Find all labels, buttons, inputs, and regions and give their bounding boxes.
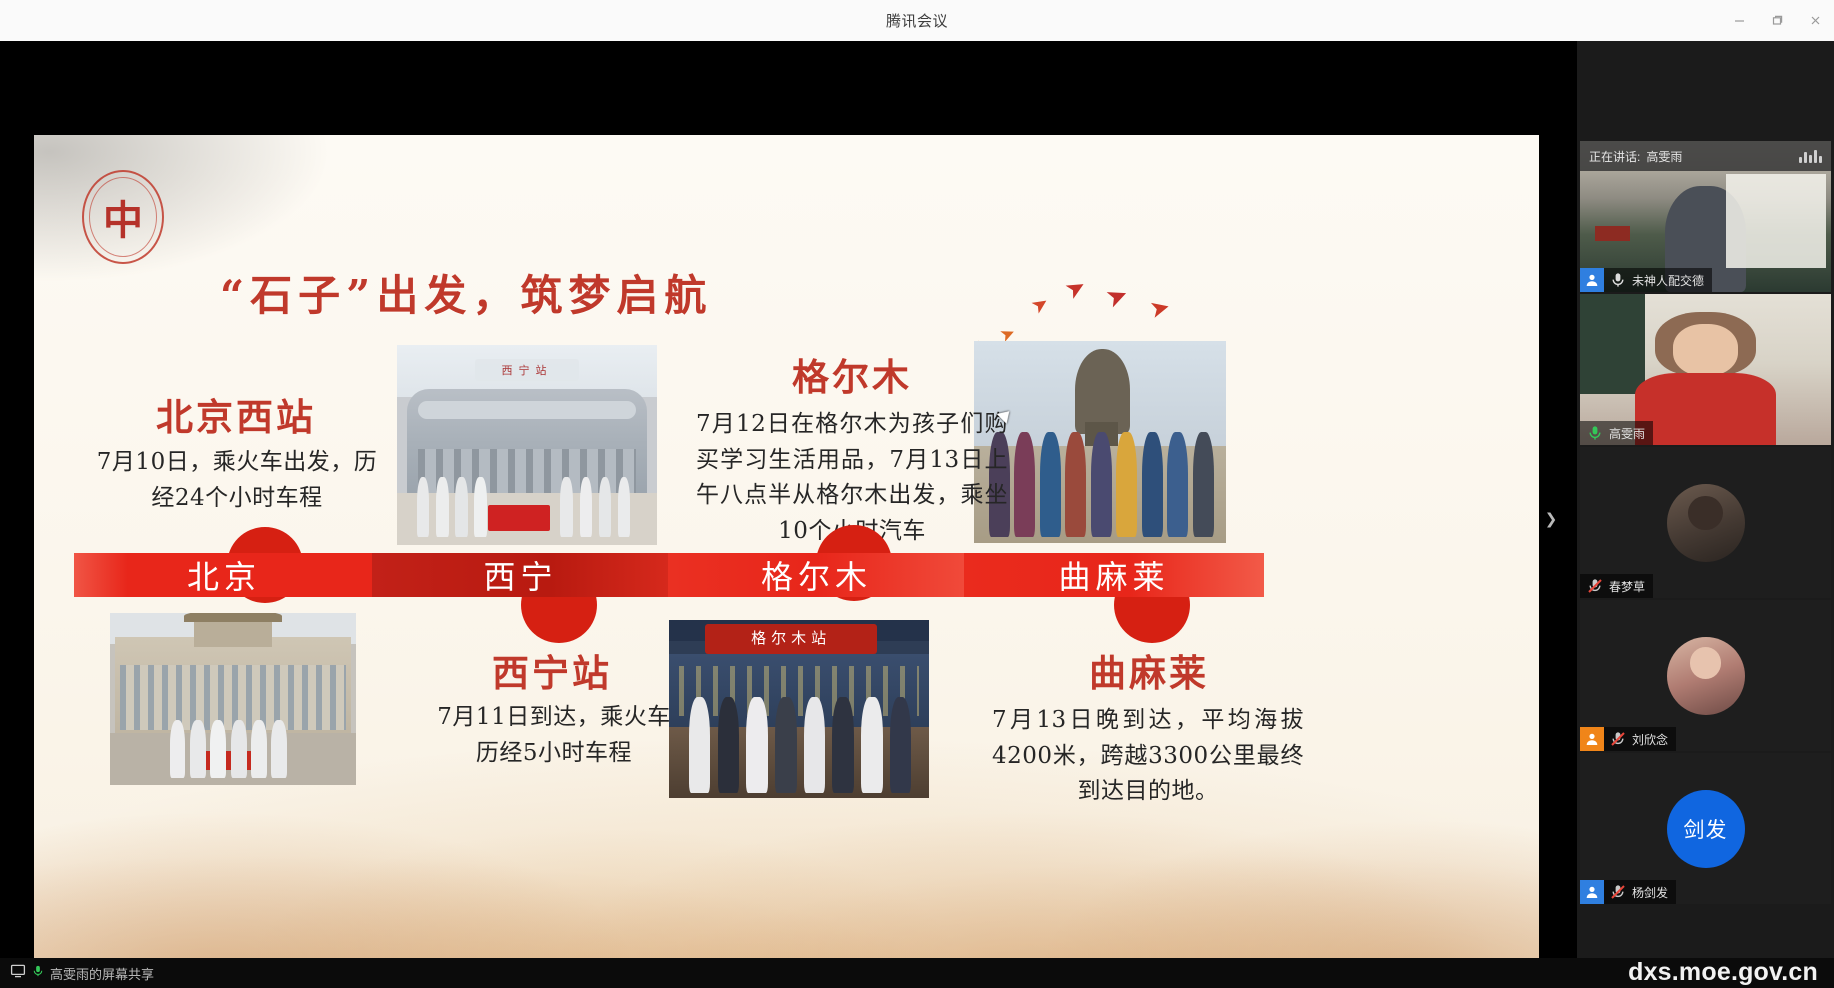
station-tower-roof xyxy=(184,613,282,622)
whiteboard xyxy=(1726,174,1826,268)
audio-wave-icon xyxy=(1799,150,1822,163)
participant-tile-3[interactable]: 春梦草 xyxy=(1580,447,1831,598)
timeline-banner-beijing[interactable]: 北京 xyxy=(74,553,374,597)
photo-beijing-west-station xyxy=(110,613,356,785)
person xyxy=(474,477,486,537)
person xyxy=(1116,432,1137,537)
photo-people-group xyxy=(984,432,1216,537)
timeline-banner-golmud[interactable]: 格尔木 xyxy=(668,553,965,597)
screen-share-indicator: 高雯雨的屏幕共享 xyxy=(10,963,154,984)
person xyxy=(861,697,883,793)
person xyxy=(890,697,912,793)
person xyxy=(580,477,592,537)
person xyxy=(190,720,206,778)
speaking-prefix: 正在讲话: xyxy=(1589,148,1640,165)
window-title: 腾讯会议 xyxy=(886,10,948,31)
chevron-right-icon[interactable]: ❯ xyxy=(1543,493,1559,545)
window-controls xyxy=(1720,0,1834,41)
participant-tile-4[interactable]: 刘欣念 xyxy=(1580,600,1831,751)
participant-badge-icon xyxy=(1580,880,1604,904)
station-sign-text: 格尔木站 xyxy=(711,627,872,650)
person xyxy=(1065,432,1086,537)
participant-tile-2[interactable]: 高雯雨 xyxy=(1580,294,1831,445)
slide-title: “石子”出发，筑梦启航 xyxy=(220,262,712,323)
university-logo: 中 xyxy=(82,170,164,264)
participant-name-3: 春梦草 xyxy=(1609,578,1645,595)
person xyxy=(1193,432,1214,537)
screen-share-icon xyxy=(10,963,26,984)
stop-desc-beijing-west: 7月10日，乘火车出发，历经24个小时车程 xyxy=(96,445,378,516)
person xyxy=(271,720,287,778)
person xyxy=(455,477,467,537)
timeline-banner-qumalai[interactable]: 曲麻莱 xyxy=(964,553,1264,597)
shared-screen-region: 中 “石子”出发，筑梦启航 ✦ ➤ ➤ ➤ ➤ ➤ ✦ xyxy=(22,53,1577,976)
participant-nameplate-5: 杨剑发 xyxy=(1580,880,1676,904)
bird-icon: ➤ xyxy=(1028,292,1053,318)
person xyxy=(718,697,740,793)
mic-on-icon xyxy=(1609,271,1627,289)
presentation-slide: 中 “石子”出发，筑梦启航 ✦ ➤ ➤ ➤ ➤ ➤ ✦ xyxy=(34,135,1539,973)
stop-name-golmud: 格尔木 xyxy=(740,347,964,401)
minimize-icon[interactable] xyxy=(1720,0,1758,41)
photo-people-group xyxy=(120,720,346,778)
station-sign-text: 西宁站 xyxy=(483,362,571,376)
app-window: 腾讯会议 xyxy=(0,0,1834,988)
photo-golmud-station: 格尔木站 xyxy=(669,620,929,798)
mic-on-green-icon xyxy=(31,964,45,983)
person xyxy=(618,477,630,537)
stop-desc-qumalai: 7月13日晚到达，平均海拔4200米，跨越3300公里最终到达目的地。 xyxy=(992,703,1304,810)
stop-name-qumalai: 曲麻莱 xyxy=(1034,643,1264,697)
watermark-url: dxs.moe.gov.cn xyxy=(1628,958,1818,987)
person xyxy=(1040,432,1061,537)
screen-share-label: 高雯雨的屏幕共享 xyxy=(50,964,154,983)
mic-muted-icon xyxy=(1609,883,1627,901)
timeline-banner-xining[interactable]: 西宁 xyxy=(372,553,669,597)
logo-mark: 中 xyxy=(103,188,143,246)
participant-nameplate-4: 刘欣念 xyxy=(1580,727,1676,751)
avatar xyxy=(1667,484,1745,562)
person xyxy=(417,477,429,537)
bird-icon: ➤ xyxy=(1147,295,1172,323)
mic-on-green-icon xyxy=(1586,424,1604,442)
stop-name-xining: 西宁站 xyxy=(434,643,670,697)
avatar-initials-text: 剑发 xyxy=(1684,814,1728,844)
speaking-name: 高雯雨 xyxy=(1646,148,1682,165)
restore-icon[interactable] xyxy=(1758,0,1796,41)
person-clothing xyxy=(1635,373,1776,445)
mic-muted-icon xyxy=(1609,730,1627,748)
avatar xyxy=(1667,637,1745,715)
participant-tile-5[interactable]: 剑发 杨剑发 xyxy=(1580,753,1831,904)
timeline-banner-label: 北京 xyxy=(187,552,261,598)
person xyxy=(436,477,448,537)
station-roof-band xyxy=(418,401,636,419)
meeting-stage: 中 “石子”出发，筑梦启航 ✦ ➤ ➤ ➤ ➤ ➤ ✦ xyxy=(0,41,1834,988)
person-face xyxy=(1673,324,1738,375)
person xyxy=(832,697,854,793)
avatar-head xyxy=(1688,496,1722,530)
participant-name-4: 刘欣念 xyxy=(1632,731,1668,748)
participant-nameplate-1: 未神人配交德 xyxy=(1580,268,1712,292)
participant-nameplate-3: 春梦草 xyxy=(1580,574,1653,598)
titlebar: 腾讯会议 xyxy=(0,0,1834,41)
participant-name-1: 未神人配交德 xyxy=(1632,272,1704,289)
speaking-indicator-bar: 正在讲话: 高雯雨 xyxy=(1580,141,1831,171)
person xyxy=(560,477,572,537)
photo-people-group xyxy=(679,697,918,793)
participant-badge-icon xyxy=(1580,727,1604,751)
person xyxy=(251,720,267,778)
person xyxy=(775,697,797,793)
close-icon[interactable] xyxy=(1796,0,1834,41)
photo-qumalai-group xyxy=(974,341,1226,543)
participant-tile-1[interactable]: 正在讲话: 高雯雨 未神人配交德 xyxy=(1580,141,1831,292)
person xyxy=(804,697,826,793)
timeline-banner-label: 曲麻莱 xyxy=(1058,552,1169,598)
person xyxy=(1142,432,1163,537)
bird-icon: ➤ xyxy=(1061,274,1090,305)
timeline-banner-label: 西宁 xyxy=(483,552,557,598)
person xyxy=(689,697,711,793)
photo-people-group xyxy=(407,477,646,537)
timeline-banner-label: 格尔木 xyxy=(761,552,872,598)
person xyxy=(210,720,226,778)
background-wall xyxy=(1580,294,1645,394)
host-badge-icon xyxy=(1580,268,1604,292)
bird-icon: ➤ xyxy=(1102,280,1132,312)
participant-name-2: 高雯雨 xyxy=(1609,425,1645,442)
avatar-initials: 剑发 xyxy=(1667,790,1745,868)
stop-name-beijing-west: 北京西站 xyxy=(108,387,364,441)
bottom-status-bar: 高雯雨的屏幕共享 dxs.moe.gov.cn xyxy=(0,958,1834,988)
person xyxy=(746,697,768,793)
person xyxy=(599,477,611,537)
person xyxy=(1014,432,1035,537)
avatar-head xyxy=(1690,647,1721,678)
person xyxy=(170,720,186,778)
wall-banner xyxy=(1595,226,1630,241)
person xyxy=(1167,432,1188,537)
person xyxy=(231,720,247,778)
participant-name-5: 杨剑发 xyxy=(1632,884,1668,901)
mic-muted-icon xyxy=(1586,577,1604,595)
person xyxy=(1091,432,1112,537)
photo-xining-station: 西宁站 xyxy=(397,345,657,545)
participant-sidebar: ❯ 正在讲话: 高雯雨 xyxy=(1577,41,1834,988)
participant-nameplate-2: 高雯雨 xyxy=(1580,421,1653,445)
stop-desc-xining: 7月11日到达，乘火车历经5小时车程 xyxy=(426,700,682,771)
